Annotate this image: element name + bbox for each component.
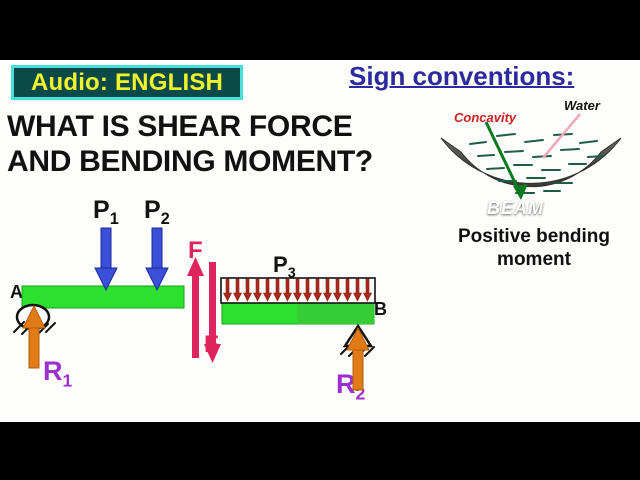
diagram-artwork — [0, 60, 640, 422]
udl-box-p3 — [221, 278, 375, 303]
point-load-arrow-p2 — [146, 228, 168, 290]
beam-arc-shape — [441, 138, 621, 187]
slide-canvas: Audio: ENGLISH WHAT IS SHEAR FORCE AND B… — [0, 60, 640, 422]
video-frame: Audio: ENGLISH WHAT IS SHEAR FORCE AND B… — [0, 0, 640, 480]
letterbox-top — [0, 0, 640, 60]
left-beam — [22, 286, 184, 308]
point-load-arrow-p1 — [95, 228, 117, 290]
water-pointer-line — [543, 114, 580, 158]
concavity-arrow-icon — [486, 122, 528, 200]
letterbox-bottom — [0, 422, 640, 480]
right-beam — [222, 302, 374, 324]
shear-force-arrow-down — [204, 262, 221, 363]
shear-force-arrow-up — [187, 257, 204, 358]
